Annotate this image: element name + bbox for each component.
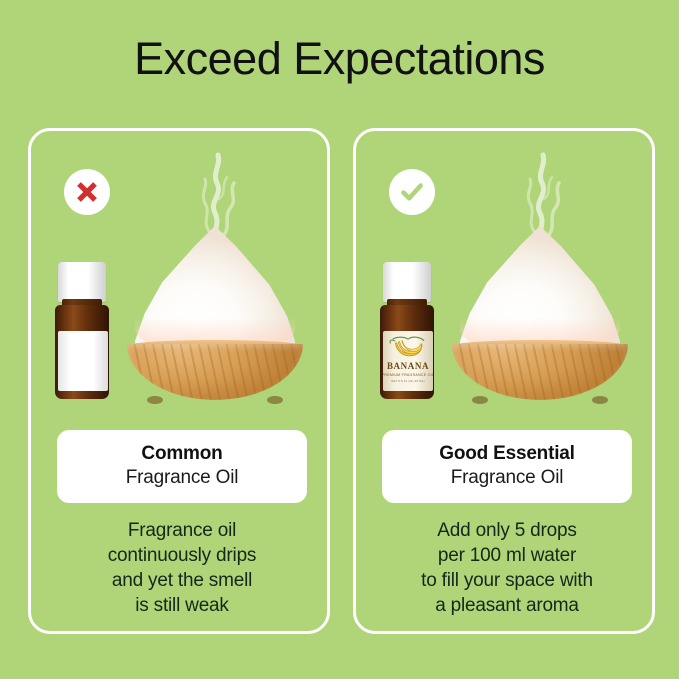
description-good-essential: Add only 5 drops per 100 ml water to fil… [368, 518, 646, 618]
comparison-panels: Common Fragrance Oil Fragrance oil conti… [28, 128, 655, 634]
diffuser-device [113, 226, 318, 399]
page-title: Exceed Expectations [0, 33, 679, 85]
banana-label-subtitle: PREMIUM FRAGRANCE OIL [383, 373, 433, 377]
bottle-label-blank [58, 331, 108, 391]
x-mark-icon [64, 169, 110, 215]
diffuser-foot-right [267, 396, 283, 404]
panel-common: Common Fragrance Oil Fragrance oil conti… [28, 128, 330, 634]
diffuser-device [438, 226, 643, 399]
bottle-cap [58, 262, 106, 302]
description-line: is still weak [43, 593, 321, 618]
name-card-title: Good Essential [388, 442, 626, 466]
name-card-title: Common [63, 442, 301, 466]
bottle-cap [383, 262, 431, 302]
diffuser-foot-right [592, 396, 608, 404]
description-line: per 100 ml water [368, 543, 646, 568]
name-card-subtitle: Fragrance Oil [63, 466, 301, 490]
diffuser-wood-base [452, 344, 628, 400]
oil-bottle-banana: BANANA PREMIUM FRAGRANCE OIL NET 0.5 FL … [379, 262, 435, 399]
banana-label-net-weight: NET 0.5 FL OZ (15 ML) [391, 379, 424, 383]
bottle-glass: BANANA PREMIUM FRAGRANCE OIL NET 0.5 FL … [380, 305, 434, 399]
description-line: Fragrance oil [43, 518, 321, 543]
description-line: a pleasant aroma [368, 593, 646, 618]
panel-good-essential: BANANA PREMIUM FRAGRANCE OIL NET 0.5 FL … [353, 128, 655, 634]
name-card-common: Common Fragrance Oil [57, 430, 307, 503]
check-mark-icon [389, 169, 435, 215]
description-line: to fill your space with [368, 568, 646, 593]
description-line: Add only 5 drops [368, 518, 646, 543]
diffuser-foot-left [472, 396, 488, 404]
banana-bunch-icon [387, 334, 429, 360]
bottle-glass [55, 305, 109, 399]
bottle-label-banana: BANANA PREMIUM FRAGRANCE OIL NET 0.5 FL … [383, 331, 433, 391]
name-card-good-essential: Good Essential Fragrance Oil [382, 430, 632, 503]
diffuser-wood-base [127, 344, 303, 400]
banana-label-name: BANANA [387, 361, 429, 371]
description-line: continuously drips [43, 543, 321, 568]
diffuser-foot-left [147, 396, 163, 404]
description-common: Fragrance oil continuously drips and yet… [43, 518, 321, 618]
oil-bottle-common [54, 262, 110, 399]
name-card-subtitle: Fragrance Oil [388, 466, 626, 490]
description-line: and yet the smell [43, 568, 321, 593]
